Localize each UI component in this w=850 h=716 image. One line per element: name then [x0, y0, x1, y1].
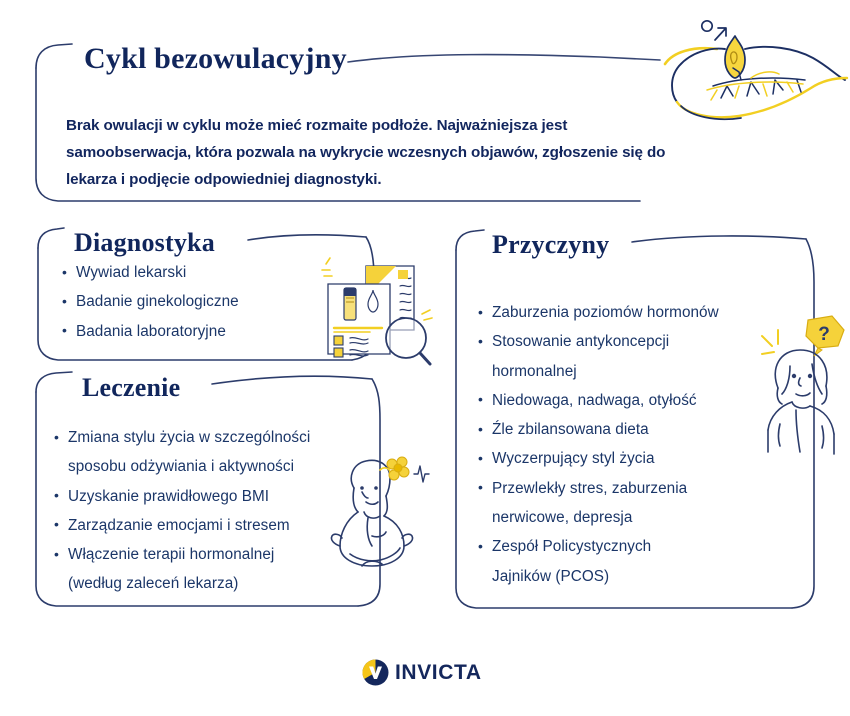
meditating-woman-lotus-pose-icon [318, 448, 430, 580]
page-title: Cykl bezowulacyjny [84, 44, 347, 74]
list-item: Przewlekły stres, zaburzenia [478, 476, 778, 502]
brand-logo: INVICTA [362, 655, 488, 689]
list-item: Zaburzenia poziomów hormonów [478, 300, 778, 326]
list-item: Zespół Policystycznych [478, 534, 778, 560]
list-item: Wyczerpujący styl życia [478, 446, 778, 472]
list-item: Badania laboratoryjne [62, 319, 312, 345]
list-item: nerwicowe, depresja [478, 505, 778, 531]
list-item: Wywiad lekarski [62, 260, 312, 286]
section-title-przyczyny: Przyczyny [492, 232, 609, 258]
intro-paragraph: Brak owulacji w cyklu może mieć rozmaite… [66, 112, 666, 193]
list-item: Jajników (PCOS) [478, 564, 778, 590]
list-item: Źle zbilansowana dieta [478, 417, 778, 443]
list-item: Badanie ginekologiczne [62, 289, 312, 315]
brand-wordmark: INVICTA [395, 662, 482, 683]
infographic-canvas: Cykl bezowulacyjny Diagnostyka Przyczyny… [0, 0, 850, 716]
svg-text:?: ? [818, 324, 830, 345]
list-item: Stosowanie antykoncepcji [478, 329, 778, 355]
section-title-leczenie: Leczenie [82, 375, 180, 401]
list-item: Niedowaga, nadwaga, otyłość [478, 388, 778, 414]
ovary-with-follicle-releasing-egg-icon [655, 2, 850, 127]
list-item: hormonalnej [478, 359, 778, 385]
section-title-diagnostyka: Diagnostyka [74, 230, 215, 256]
invicta-circle-v-logo-icon [362, 659, 389, 686]
lab-report-with-magnifier-icon [310, 252, 435, 372]
diagnostyka-list: Wywiad lekarskiBadanie ginekologiczneBad… [62, 260, 312, 348]
worried-woman-with-question-mark-icon: ? [756, 306, 850, 458]
przyczyny-list: Zaburzenia poziomów hormonówStosowanie a… [478, 300, 778, 593]
